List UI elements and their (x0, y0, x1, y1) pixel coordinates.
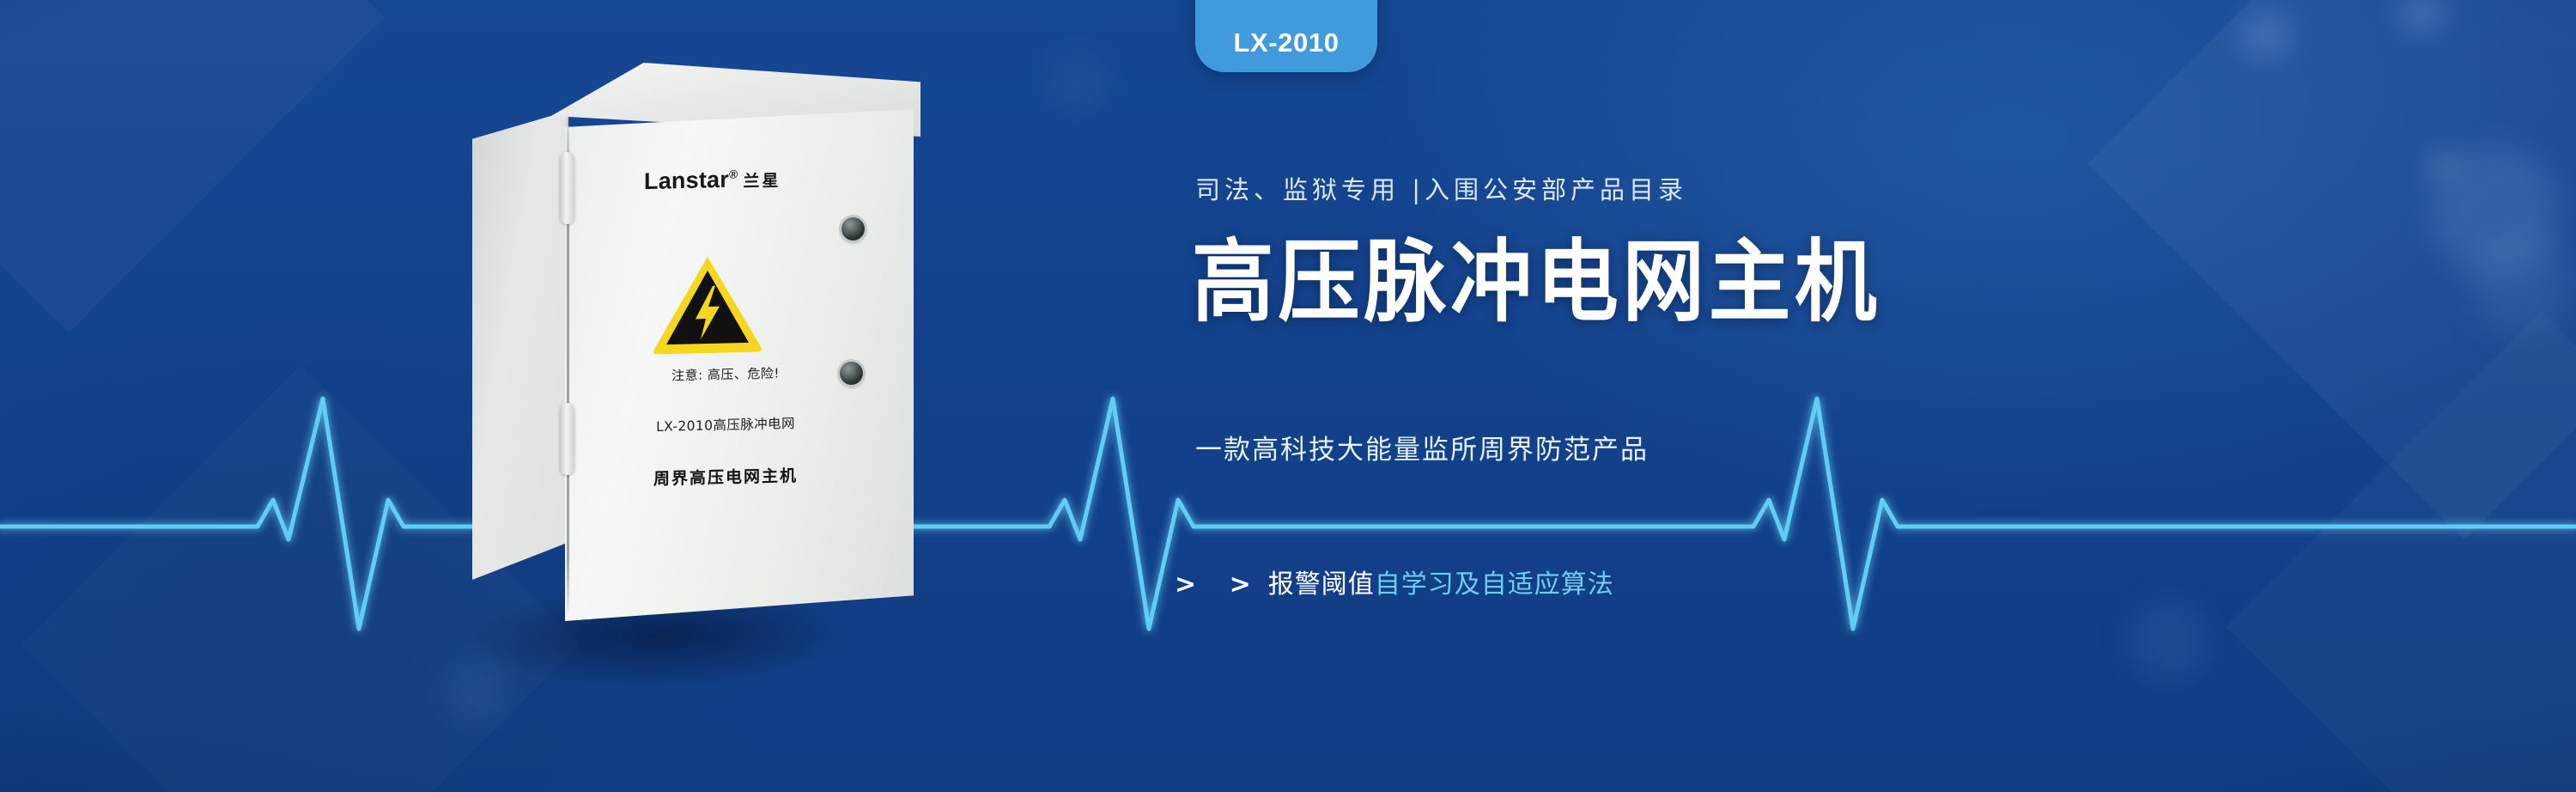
background-vignette (0, 0, 2576, 792)
hero-banner: Lanstar®兰星 注意: 高压、危险! LX-2010高压脉冲电网 周界高压… (0, 0, 2576, 792)
